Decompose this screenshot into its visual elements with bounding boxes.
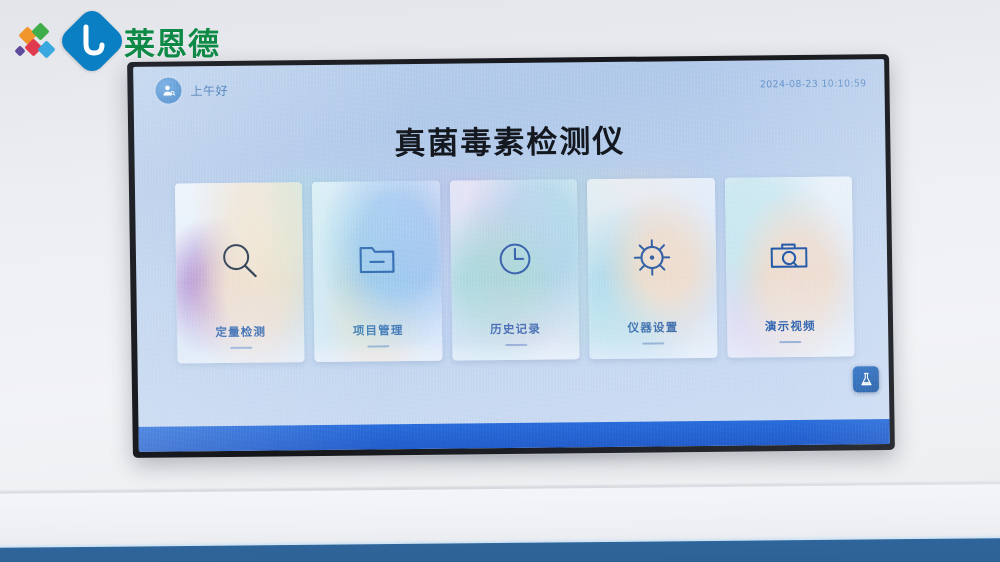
logo-diamond-cluster — [14, 17, 60, 65]
card-icon-slot — [725, 232, 853, 279]
card-underline — [367, 345, 389, 347]
card-icon-slot — [588, 234, 716, 281]
monitor: 上午好 2024-08-23 10:10:59 真菌毒素检测仪 — [127, 54, 895, 458]
card-label: 仪器设置 — [589, 319, 717, 336]
touchscreen[interactable]: 上午好 2024-08-23 10:10:59 真菌毒素检测仪 — [133, 59, 890, 452]
user-avatar-icon[interactable] — [155, 77, 181, 103]
card-label-group: 演示视频 — [727, 317, 855, 343]
screen-topbar: 上午好 2024-08-23 10:10:59 — [133, 59, 885, 115]
card-underline — [505, 344, 527, 346]
page-title: 真菌毒素检测仪 — [134, 113, 886, 166]
user-glyph-icon — [160, 82, 176, 98]
menu-card-row: 定量检测 — [175, 176, 855, 363]
card-project-management[interactable]: 项目管理 — [312, 181, 442, 362]
magnifier-icon — [216, 239, 263, 285]
card-icon-slot — [451, 235, 579, 282]
card-icon-slot — [176, 238, 304, 285]
flask-icon — [857, 371, 874, 388]
card-label: 项目管理 — [314, 322, 442, 339]
card-demo-video[interactable]: 演示视频 — [724, 176, 854, 357]
screen-bottom-bar — [138, 419, 889, 452]
card-icon-slot — [313, 237, 441, 284]
logo-mark-icon — [57, 6, 128, 77]
card-label-group: 仪器设置 — [589, 319, 717, 345]
card-underline — [230, 347, 252, 349]
card-quantitative-detection[interactable]: 定量检测 — [175, 182, 305, 363]
card-label-group: 项目管理 — [314, 322, 442, 348]
card-label-group: 历史记录 — [452, 320, 580, 346]
flask-shortcut-button[interactable] — [853, 366, 879, 392]
card-history-records[interactable]: 历史记录 — [450, 179, 580, 360]
card-label: 演示视频 — [727, 317, 855, 334]
monitor-bezel: 上午好 2024-08-23 10:10:59 真菌毒素检测仪 — [127, 54, 895, 458]
card-underline — [642, 342, 664, 344]
scene: 莱恩德 上午好 — [0, 0, 1000, 562]
status-timestamp: 2024-08-23 10:10:59 — [760, 78, 867, 90]
logo-diamond-blue — [37, 40, 55, 58]
logo-hook-icon — [77, 24, 107, 58]
brand-name: 莱恩德 — [124, 19, 220, 64]
greeting-group[interactable]: 上午好 — [155, 77, 228, 104]
card-instrument-settings[interactable]: 仪器设置 — [587, 178, 717, 359]
card-label: 定量检测 — [177, 323, 305, 340]
card-label: 历史记录 — [452, 320, 580, 337]
card-label-group: 定量检测 — [177, 323, 305, 349]
brand-logo: 莱恩德 — [14, 16, 220, 66]
clock-icon — [491, 236, 538, 282]
folder-icon — [354, 237, 401, 283]
camera-icon — [766, 233, 813, 279]
gear-icon — [629, 234, 676, 280]
greeting-text: 上午好 — [190, 81, 228, 98]
card-underline — [780, 341, 802, 343]
